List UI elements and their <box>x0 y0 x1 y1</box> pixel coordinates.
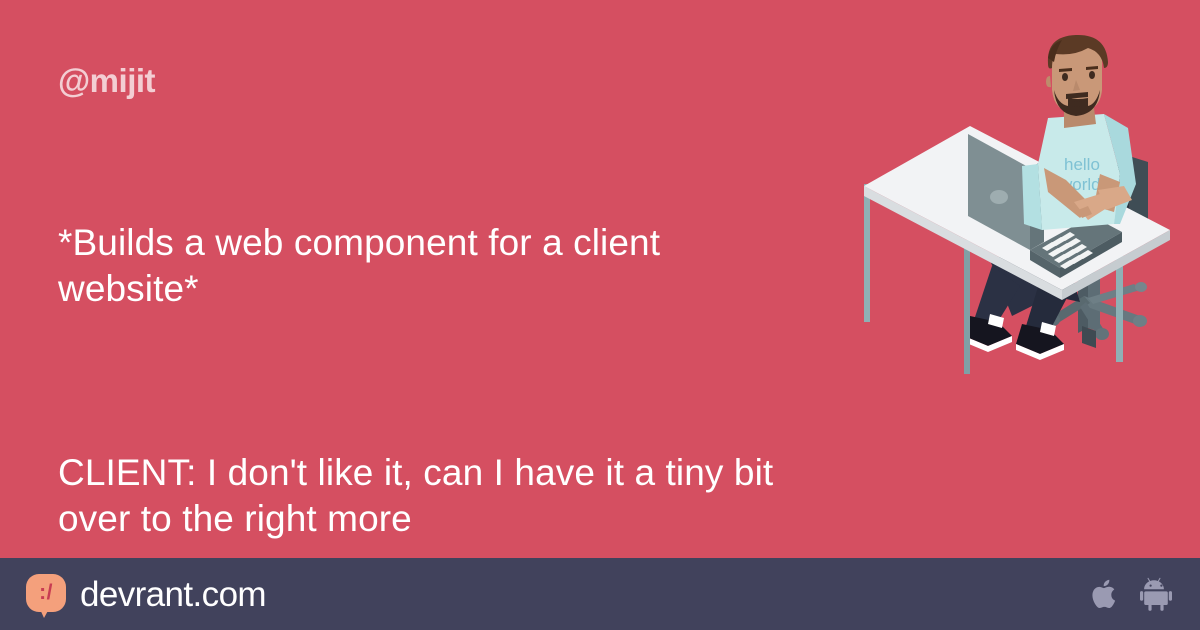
devrant-post-card: @mijit *Builds a web component for a cli… <box>0 0 1200 630</box>
brand-name: devrant.com <box>80 577 266 612</box>
post-paragraph-2: CLIENT: I don't like it, can I have it a… <box>58 450 778 542</box>
post-username[interactable]: @mijit <box>58 64 155 97</box>
app-store-icons <box>1090 577 1172 611</box>
android-icon[interactable] <box>1140 577 1172 611</box>
person-head <box>1046 35 1108 128</box>
footer-bar: :/ devrant.com <box>0 558 1200 630</box>
post-content-area: @mijit *Builds a web component for a cli… <box>0 0 1200 558</box>
post-body: *Builds a web component for a client web… <box>58 128 778 630</box>
logo-face-text: :/ <box>26 574 66 612</box>
apple-icon[interactable] <box>1090 577 1118 611</box>
developer-at-desk-illustration: hello world <box>852 34 1182 374</box>
devrant-logo-icon: :/ <box>26 574 66 614</box>
tshirt-text-line1: hello <box>1064 155 1100 174</box>
brand-link[interactable]: :/ devrant.com <box>26 574 266 614</box>
post-paragraph-1: *Builds a web component for a client web… <box>58 220 778 312</box>
